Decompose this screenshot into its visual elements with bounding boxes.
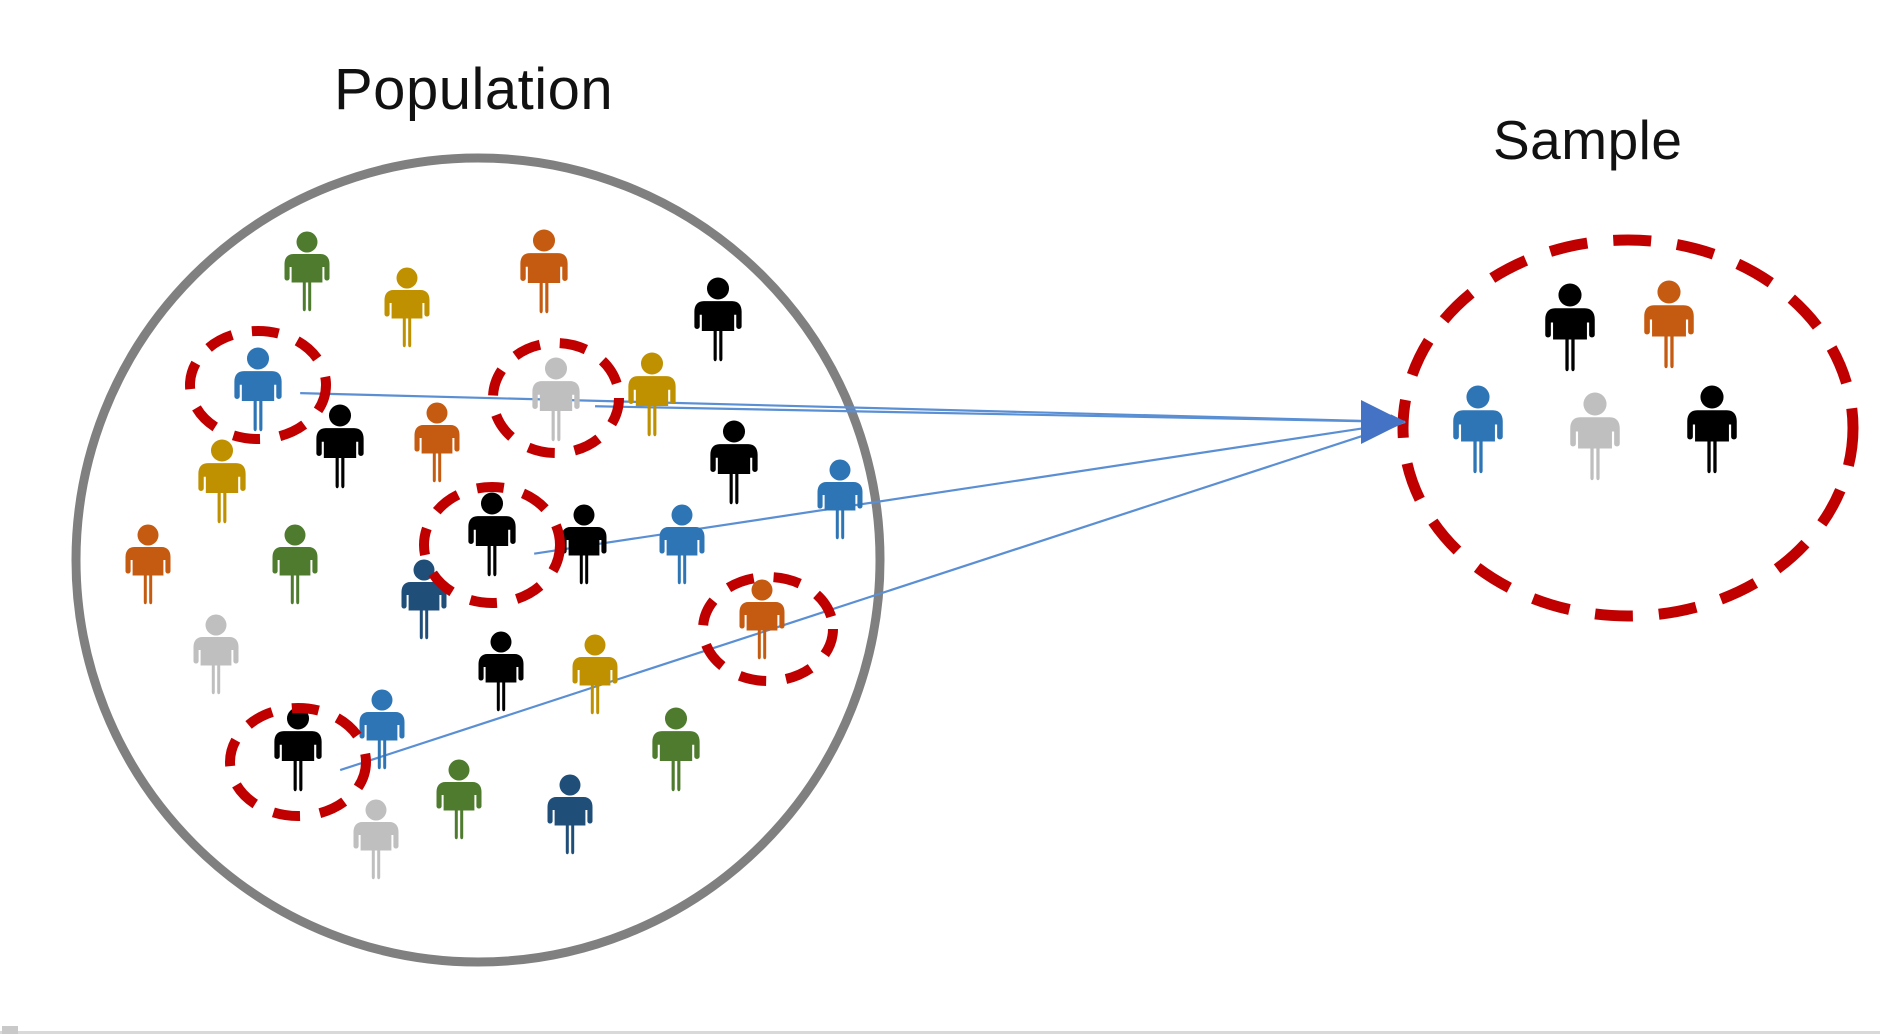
population-person-black-icon	[710, 420, 757, 504]
bottom-corner-mark	[2, 1026, 18, 1034]
population-person-green-icon	[273, 525, 318, 605]
population-person-blue-icon	[234, 347, 281, 431]
population-person-green-icon	[285, 232, 330, 312]
population-person-gray-icon	[194, 615, 239, 695]
diagram-canvas: Population Sample	[0, 0, 1880, 1034]
sampling-arrow-2	[595, 406, 1405, 422]
population-person-dark-blue-icon	[402, 560, 447, 640]
population-person-gold-icon	[573, 635, 618, 715]
population-person-blue-icon	[818, 460, 863, 540]
sample-person-orange-icon	[1644, 280, 1694, 368]
population-person-orange-icon	[740, 580, 785, 660]
population-person-green-icon	[652, 707, 699, 791]
population-person-black-icon	[274, 707, 321, 791]
population-person-black-icon	[479, 632, 524, 712]
population-label: Population	[334, 56, 613, 123]
population-person-orange-icon	[126, 525, 171, 605]
population-person-orange-icon	[520, 229, 567, 313]
population-person-gold-icon	[198, 439, 245, 523]
population-person-green-icon	[437, 760, 482, 840]
population-person-gold-icon	[385, 268, 430, 348]
population-person-gold-icon	[628, 352, 675, 436]
sample-person-black-icon	[1545, 283, 1595, 371]
population-circle	[76, 158, 880, 962]
population-person-black-icon	[468, 492, 515, 576]
population-people-group	[126, 229, 863, 879]
sample-person-blue-icon	[1453, 385, 1503, 473]
sample-people-group	[1453, 280, 1737, 480]
population-person-orange-icon	[415, 403, 460, 483]
sample-person-gray-icon	[1570, 392, 1620, 480]
population-person-blue-icon	[660, 505, 705, 585]
population-person-gray-icon	[354, 800, 399, 880]
population-person-dark-blue-icon	[548, 775, 593, 855]
population-person-black-icon	[316, 404, 363, 488]
sample-person-black-icon	[1687, 385, 1737, 473]
population-person-black-icon	[694, 277, 741, 361]
sample-label: Sample	[1493, 108, 1682, 172]
